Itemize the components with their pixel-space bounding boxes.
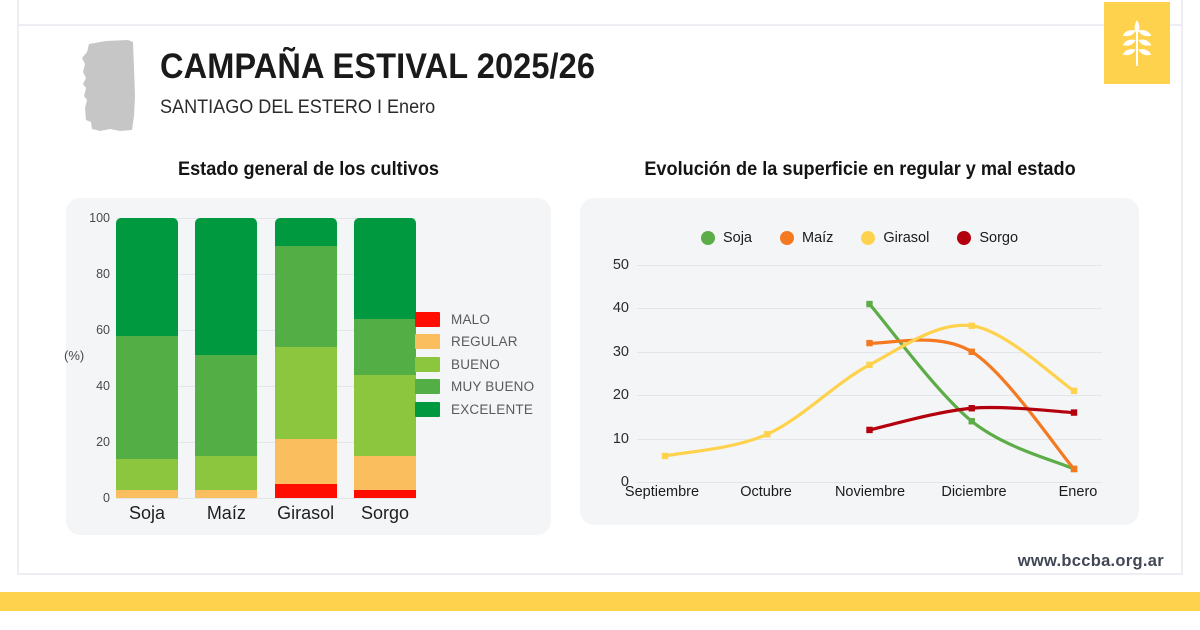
legend-label: REGULAR xyxy=(451,334,518,349)
x-axis-tick-label: Noviembre xyxy=(818,484,922,500)
y-axis-tick-label: 60 xyxy=(64,323,110,337)
legend-label: Soja xyxy=(723,230,752,246)
y-axis-tick-label: 20 xyxy=(589,387,629,403)
legend-label: EXCELENTE xyxy=(451,402,533,417)
right-panel-title: Evolución de la superficie en regular y … xyxy=(600,158,1121,181)
bar-segment-muy-bueno[interactable] xyxy=(116,336,178,459)
data-point-marker-girasol[interactable] xyxy=(662,453,668,459)
bar-segment-bueno[interactable] xyxy=(195,456,257,490)
santiago-del-estero-map-icon xyxy=(76,38,144,138)
line-chart-x-axis: SeptiembreOctubreNoviembreDiciembreEnero xyxy=(610,484,1130,500)
bar-segment-bueno[interactable] xyxy=(354,375,416,456)
data-point-marker-maíz[interactable] xyxy=(866,340,872,346)
page-subtitle: SANTIAGO DEL ESTERO I Enero xyxy=(160,97,604,119)
data-point-marker-girasol[interactable] xyxy=(1071,388,1077,394)
y-axis-tick-label: 40 xyxy=(64,379,110,393)
legend-item-regular[interactable]: REGULAR xyxy=(415,331,534,354)
bar-segment-excelente[interactable] xyxy=(195,218,257,355)
legend-swatch xyxy=(415,312,440,327)
bar-chart-legend: MALOREGULARBUENOMUY BUENOEXCELENTE xyxy=(415,308,534,421)
y-axis-tick-label: 0 xyxy=(64,491,110,505)
x-axis-tick-label: Sorgo xyxy=(354,503,416,529)
legend-label: Girasol xyxy=(883,230,929,246)
bar-segment-excelente[interactable] xyxy=(116,218,178,336)
legend-dot xyxy=(957,231,971,245)
data-point-marker-soja[interactable] xyxy=(969,418,975,424)
bar-segment-muy-bueno[interactable] xyxy=(275,246,337,347)
x-axis-tick-label: Enero xyxy=(1026,484,1130,500)
bar-segment-bueno[interactable] xyxy=(275,347,337,439)
page-title: CAMPAÑA ESTIVAL 2025/26 xyxy=(160,48,595,86)
infographic-root: CAMPAÑA ESTIVAL 2025/26 SANTIAGO DEL EST… xyxy=(0,0,1200,630)
bar-chart-plot-area xyxy=(116,218,416,498)
accent-bottom-bar xyxy=(0,592,1200,611)
data-point-marker-sorgo[interactable] xyxy=(866,427,872,433)
legend-dot xyxy=(780,231,794,245)
data-point-marker-girasol[interactable] xyxy=(969,323,975,329)
legend-item-bueno[interactable]: BUENO xyxy=(415,353,534,376)
data-point-marker-girasol[interactable] xyxy=(866,362,872,368)
line-chart-legend: SojaMaízGirasolSorgo xyxy=(580,230,1139,246)
legend-label: Maíz xyxy=(802,230,833,246)
data-point-marker-maíz[interactable] xyxy=(1071,466,1077,472)
bar-segment-regular[interactable] xyxy=(116,490,178,498)
bar-column-soja[interactable] xyxy=(116,218,178,498)
x-axis-tick-label: Soja xyxy=(116,503,178,529)
line-chart-series-svg xyxy=(637,265,1102,482)
y-axis-tick-label: 50 xyxy=(589,257,629,273)
x-axis-tick-label: Septiembre xyxy=(610,484,714,500)
site-url[interactable]: www.bccba.org.ar xyxy=(1018,552,1164,571)
header-text-block: CAMPAÑA ESTIVAL 2025/26 SANTIAGO DEL EST… xyxy=(160,48,628,119)
bar-column-maíz[interactable] xyxy=(195,218,257,498)
legend-dot xyxy=(701,231,715,245)
data-point-marker-sorgo[interactable] xyxy=(1071,409,1077,415)
data-point-marker-maíz[interactable] xyxy=(969,349,975,355)
y-axis-tick-label: 30 xyxy=(589,344,629,360)
legend-item-excelente[interactable]: EXCELENTE xyxy=(415,398,534,421)
x-axis-tick-label: Diciembre xyxy=(922,484,1026,500)
line-series-maíz xyxy=(870,340,1075,469)
bar-segment-regular[interactable] xyxy=(354,456,416,490)
legend-label: Sorgo xyxy=(979,230,1018,246)
bar-chart-y-axis-label: (%) xyxy=(64,348,84,363)
y-axis-tick-label: 20 xyxy=(64,435,110,449)
legend-item-sorgo[interactable]: Sorgo xyxy=(957,230,1018,246)
wheat-stalk-icon xyxy=(1122,20,1152,66)
bar-column-sorgo[interactable] xyxy=(354,218,416,498)
legend-swatch xyxy=(415,357,440,372)
left-panel-title: Estado general de los cultivos xyxy=(83,158,534,181)
bar-chart-x-axis: SojaMaízGirasolSorgo xyxy=(116,503,416,529)
line-chart-plot-area xyxy=(637,265,1102,482)
bar-segment-bueno[interactable] xyxy=(116,459,178,490)
legend-swatch xyxy=(415,379,440,394)
data-point-marker-girasol[interactable] xyxy=(764,431,770,437)
legend-item-soja[interactable]: Soja xyxy=(701,230,752,246)
gridline xyxy=(116,498,416,499)
data-point-marker-sorgo[interactable] xyxy=(969,405,975,411)
legend-item-malo[interactable]: MALO xyxy=(415,308,534,331)
bar-segment-muy-bueno[interactable] xyxy=(354,319,416,375)
legend-item-muy-bueno[interactable]: MUY BUENO xyxy=(415,376,534,399)
x-axis-tick-label: Girasol xyxy=(275,503,337,529)
data-point-marker-soja[interactable] xyxy=(866,301,872,307)
legend-swatch xyxy=(415,402,440,417)
y-axis-tick-label: 10 xyxy=(589,431,629,447)
bar-segment-excelente[interactable] xyxy=(275,218,337,246)
bar-segment-excelente[interactable] xyxy=(354,218,416,319)
brand-badge xyxy=(1104,2,1170,84)
bar-segment-regular[interactable] xyxy=(195,490,257,498)
legend-label: MALO xyxy=(451,312,490,327)
bar-segment-malo[interactable] xyxy=(275,484,337,498)
frame-top-divider xyxy=(17,24,1183,26)
y-axis-tick-label: 80 xyxy=(64,267,110,281)
legend-dot xyxy=(861,231,875,245)
bar-segment-muy-bueno[interactable] xyxy=(195,355,257,456)
bar-segment-regular[interactable] xyxy=(275,439,337,484)
legend-item-girasol[interactable]: Girasol xyxy=(861,230,929,246)
bar-segment-malo[interactable] xyxy=(354,490,416,498)
legend-item-maíz[interactable]: Maíz xyxy=(780,230,833,246)
legend-swatch xyxy=(415,334,440,349)
y-axis-tick-label: 40 xyxy=(589,300,629,316)
y-axis-tick-label: 100 xyxy=(64,211,110,225)
bar-column-girasol[interactable] xyxy=(275,218,337,498)
x-axis-tick-label: Octubre xyxy=(714,484,818,500)
legend-label: MUY BUENO xyxy=(451,379,534,394)
gridline xyxy=(637,482,1102,483)
x-axis-tick-label: Maíz xyxy=(195,503,257,529)
legend-label: BUENO xyxy=(451,357,500,372)
